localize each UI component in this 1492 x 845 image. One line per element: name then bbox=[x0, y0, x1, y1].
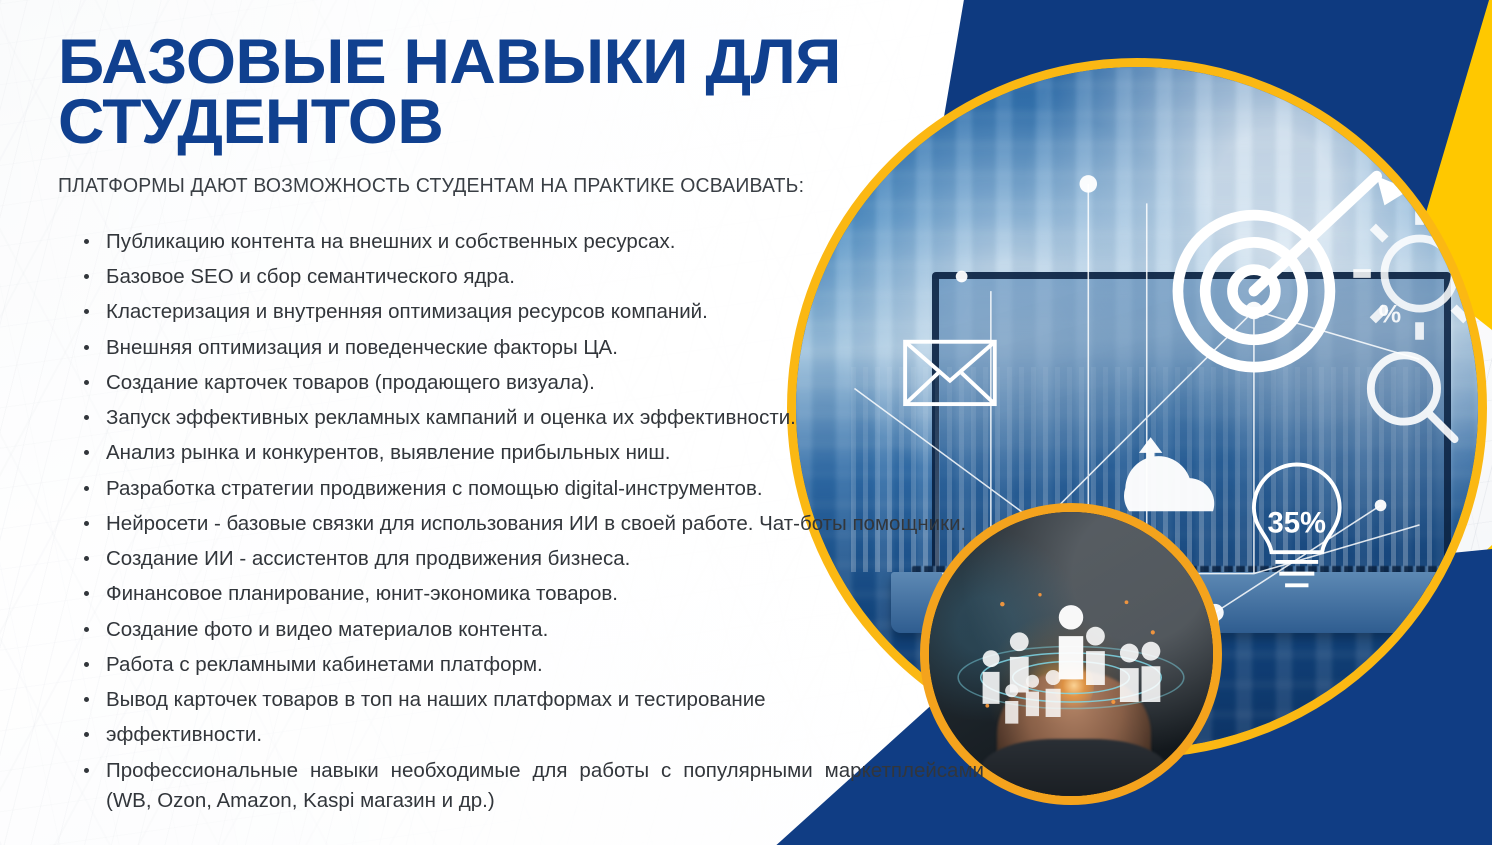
list-item: Разработка стратегии продвижения с помощ… bbox=[84, 474, 984, 505]
slide-root: 35% bbox=[0, 0, 1492, 845]
cloud-sync-icon bbox=[1124, 437, 1214, 511]
list-item: Финансовое планирование, юнит-экономика … bbox=[84, 579, 984, 610]
subtitle-text: ПЛАТФОРМЫ ДАЮТ ВОЗМОЖНОСТЬ СТУДЕНТАМ НА … bbox=[58, 171, 936, 201]
list-item: Внешняя оптимизация и поведенческие факт… bbox=[84, 333, 984, 364]
person-icon-far-right bbox=[1142, 642, 1161, 702]
person-icon-child-1 bbox=[1026, 675, 1039, 716]
list-item: Анализ рынка и конкурентов, выявление пр… bbox=[84, 438, 984, 469]
magnifier-icon bbox=[1371, 355, 1455, 439]
list-item: Публикацию контента на внешних и собстве… bbox=[84, 227, 984, 258]
list-item: Вывод карточек товаров в топ на наших пл… bbox=[84, 685, 984, 716]
percent-icon: % bbox=[1379, 300, 1402, 328]
person-icon-child-2 bbox=[1046, 670, 1061, 717]
list-item: Профессиональные навыки необходимые для … bbox=[84, 756, 984, 818]
list-item: Запуск эффективных рекламных кампаний и … bbox=[84, 403, 984, 434]
list-item: Создание ИИ - ассистентов для продвижени… bbox=[84, 544, 984, 575]
person-icon-child-3 bbox=[1005, 684, 1018, 723]
person-icon-center bbox=[1059, 605, 1083, 679]
list-item: Нейросети - базовые связки для использов… bbox=[84, 509, 984, 540]
list-item: Работа с рекламными кабинетами платформ. bbox=[84, 650, 984, 681]
list-item: Кластеризация и внутренняя оптимизация р… bbox=[84, 297, 984, 328]
slide-content: БАЗОВЫЕ НАВЫКИ ДЛЯ СТУДЕНТОВ ПЛАТФОРМЫ Д… bbox=[0, 0, 1000, 845]
list-item: Создание карточек товаров (продающего ви… bbox=[84, 368, 984, 399]
page-title: БАЗОВЫЕ НАВЫКИ ДЛЯ СТУДЕНТОВ bbox=[58, 32, 981, 153]
person-icon-left-1 bbox=[1010, 632, 1029, 692]
list-item: Создание фото и видео материалов контент… bbox=[84, 615, 984, 646]
gear-icon bbox=[1353, 207, 1478, 340]
skills-bullet-list: Публикацию контента на внешних и собстве… bbox=[58, 227, 984, 817]
list-item: эффективности. bbox=[84, 720, 984, 751]
list-item: Базовое SEO и сбор семантического ядра. bbox=[84, 262, 984, 293]
lightbulb-percent-label: 35% bbox=[1268, 508, 1327, 540]
target-dart-icon bbox=[1178, 176, 1410, 367]
person-icon-right-1 bbox=[1086, 627, 1105, 685]
person-icon-right-2 bbox=[1120, 644, 1139, 702]
